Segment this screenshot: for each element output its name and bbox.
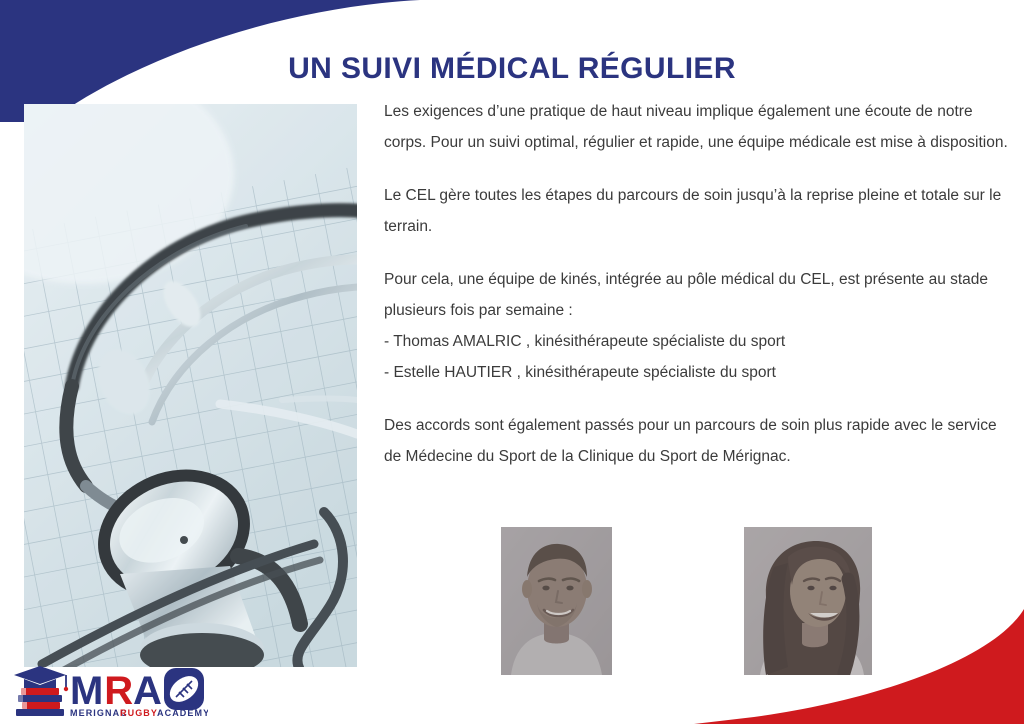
logo-letter-a: A xyxy=(133,669,162,713)
paragraph-3: Pour cela, une équipe de kinés, intégrée… xyxy=(384,264,1008,388)
page-title: UN SUIVI MÉDICAL RÉGULIER xyxy=(0,52,1024,86)
paragraph-3-intro: Pour cela, une équipe de kinés, intégrée… xyxy=(384,264,1008,326)
logo-tagline-rugby: RUGBY xyxy=(120,708,158,718)
paragraph-1: Les exigences d’une pratique de haut niv… xyxy=(384,96,1008,158)
logo-letter-r: Я xyxy=(104,669,133,713)
paragraph-4: Des accords sont également passés pour u… xyxy=(384,410,1008,472)
logo-letter-m: M xyxy=(70,669,103,713)
kine-list-item-thomas: - Thomas AMALRIC , kinésithérapeute spéc… xyxy=(384,326,1008,357)
portrait-thomas-amalric xyxy=(501,527,612,675)
mra-logo: M Я A MERIGNAC RUGBY ACADEMY xyxy=(12,662,208,720)
rugby-ball-icon xyxy=(164,668,204,710)
logo-tagline-academy: ACADEMY xyxy=(157,708,208,718)
portrait-estelle-hautier xyxy=(744,527,872,675)
paragraph-2: Le CEL gère toutes les étapes du parcour… xyxy=(384,180,1008,242)
stethoscope-photo: TS xyxy=(24,104,357,667)
kine-list-item-estelle: - Estelle HAUTIER , kinésithérapeute spé… xyxy=(384,357,1008,388)
slide-canvas: UN SUIVI MÉDICAL RÉGULIER xyxy=(0,0,1024,724)
graduation-cap-books-icon xyxy=(14,666,68,716)
body-copy: Les exigences d’une pratique de haut niv… xyxy=(384,96,1008,472)
